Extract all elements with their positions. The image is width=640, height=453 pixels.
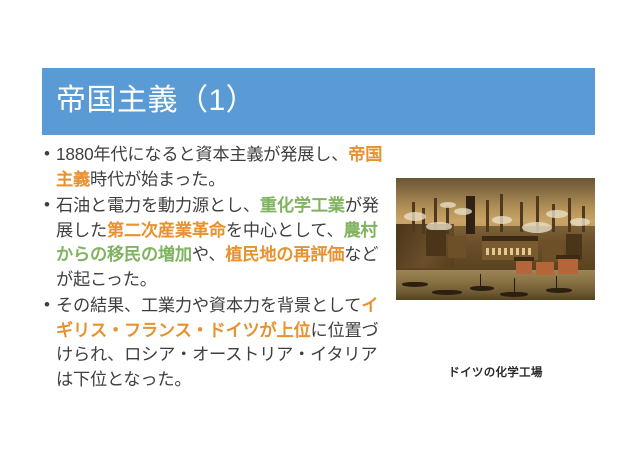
boat — [500, 292, 528, 297]
boat — [470, 286, 494, 291]
smoke-puff — [454, 208, 472, 215]
smoke-puff — [492, 216, 512, 224]
smokestack-icon — [552, 204, 555, 232]
bullet-marker-icon: • — [44, 193, 50, 218]
house-building — [536, 262, 554, 275]
slide-title: 帝国主義（1） — [56, 78, 256, 124]
run-plain: 時代が始まった。 — [90, 169, 225, 189]
house-building — [558, 258, 578, 274]
run-plain: や、 — [192, 244, 225, 264]
boat — [402, 282, 428, 287]
bullet-2-text: 石油と電力を動力源とし、重化学工業が発展した第二次産業革命を中心として、農村から… — [56, 195, 379, 289]
boat-mast — [556, 276, 557, 288]
smokestack-icon — [500, 194, 503, 232]
house-roof — [514, 257, 534, 261]
bullet-item-1: • 1880年代になると資本主義が発展し、帝国主義時代が始まった。 — [42, 142, 390, 191]
run-highlight-green: 重化学工業 — [260, 195, 345, 215]
bullet-3-text: その結果、工業力や資本力を背景としてイギリス・フランス・ドイツが上位に位置づけら… — [56, 295, 378, 389]
bullet-marker-icon: • — [44, 142, 50, 167]
bullet-marker-icon: • — [44, 293, 50, 318]
boat-mast — [514, 278, 515, 292]
slide-body-content: • 1880年代になると資本主義が発展し、帝国主義時代が始まった。 • 石油と電… — [42, 142, 390, 393]
run-plain: 1880年代になると資本主義が発展し、 — [56, 144, 348, 164]
main-chimney-icon — [466, 196, 475, 234]
factory-building — [426, 230, 446, 256]
boat — [546, 288, 572, 293]
bullet-1-text: 1880年代になると資本主義が発展し、帝国主義時代が始まった。 — [56, 144, 382, 189]
smoke-puff — [570, 218, 590, 226]
run-highlight-orange: 第二次産業革命 — [107, 220, 226, 240]
smoke-puff — [404, 212, 426, 221]
image-caption: ドイツの化学工場 — [396, 364, 595, 380]
shed-windows — [486, 248, 534, 255]
smokestack-icon — [486, 200, 489, 232]
run-highlight-orange: 植民地の再評価 — [225, 244, 344, 264]
run-plain: 石油と電力を動力源とし、 — [56, 195, 260, 215]
factory-building — [448, 236, 466, 258]
slide-title-banner: 帝国主義（1） — [42, 68, 595, 135]
smokestack-icon — [422, 208, 425, 234]
factory-illustration-image — [396, 178, 595, 300]
shed-roof — [482, 236, 538, 241]
boat-mast — [480, 274, 481, 286]
smoke-puff — [546, 210, 568, 218]
factory-illustration-art — [396, 178, 595, 300]
smokestack-icon — [568, 198, 571, 232]
smoke-puff — [522, 222, 552, 233]
bullet-item-3: • その結果、工業力や資本力を背景としてイギリス・フランス・ドイツが上位に位置づ… — [42, 293, 390, 391]
run-plain: を中心として、 — [226, 220, 344, 240]
house-building — [516, 260, 532, 274]
smoke-puff — [440, 202, 456, 208]
bullet-item-2: • 石油と電力を動力源とし、重化学工業が発展した第二次産業革命を中心として、農村… — [42, 193, 390, 291]
run-plain: その結果、工業力や資本力を背景として — [56, 295, 361, 315]
presentation-slide: 帝国主義（1） • 1880年代になると資本主義が発展し、帝国主義時代が始まった… — [0, 0, 640, 453]
boat — [432, 290, 462, 295]
house-roof — [556, 255, 580, 259]
